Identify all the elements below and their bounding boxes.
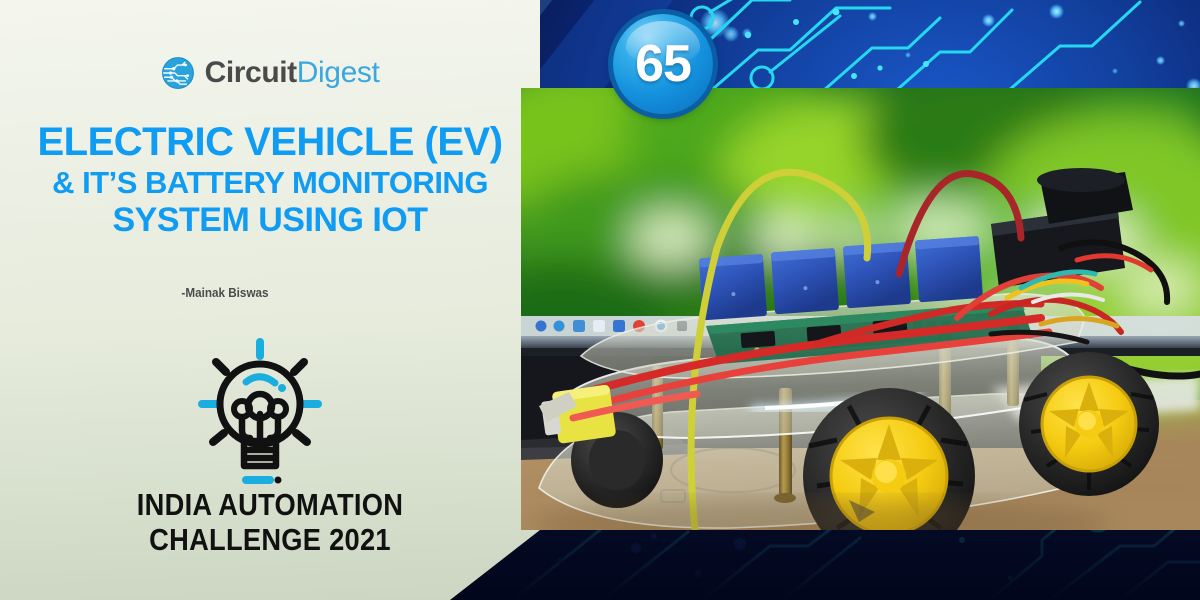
challenge-line-2: CHALLENGE 2021 <box>32 523 507 558</box>
challenge-line-1: INDIA AUTOMATION <box>32 488 507 523</box>
challenge-title: INDIA AUTOMATION CHALLENGE 2021 <box>0 488 540 557</box>
circuit-globe-icon <box>161 56 195 90</box>
title-line-2: & IT’S BATTERY MONITORING <box>0 167 540 199</box>
circuit-traces-top <box>640 0 1200 100</box>
title-line-3: SYSTEM USING IOT <box>0 203 540 238</box>
poster-canvas: CircuitDigest ELECTRIC VEHICLE (EV) & IT… <box>0 0 1200 600</box>
brand-name-secondary: Digest <box>297 56 380 89</box>
author-byline: -Mainak Biswas <box>27 285 513 300</box>
badge-number: 65 <box>635 34 691 94</box>
robot-car-chassis-photo <box>521 88 1200 530</box>
page-title: ELECTRIC VEHICLE (EV) & IT’S BATTERY MON… <box>0 122 540 238</box>
lightbulb-idea-icon <box>180 338 340 488</box>
title-line-1: ELECTRIC VEHICLE (EV) <box>0 122 540 163</box>
brand-wordmark: CircuitDigest <box>205 56 380 90</box>
episode-number-badge: 65 <box>613 14 713 114</box>
brand-name-primary: Circuit <box>205 56 297 89</box>
brand-logo[interactable]: CircuitDigest <box>0 56 540 90</box>
